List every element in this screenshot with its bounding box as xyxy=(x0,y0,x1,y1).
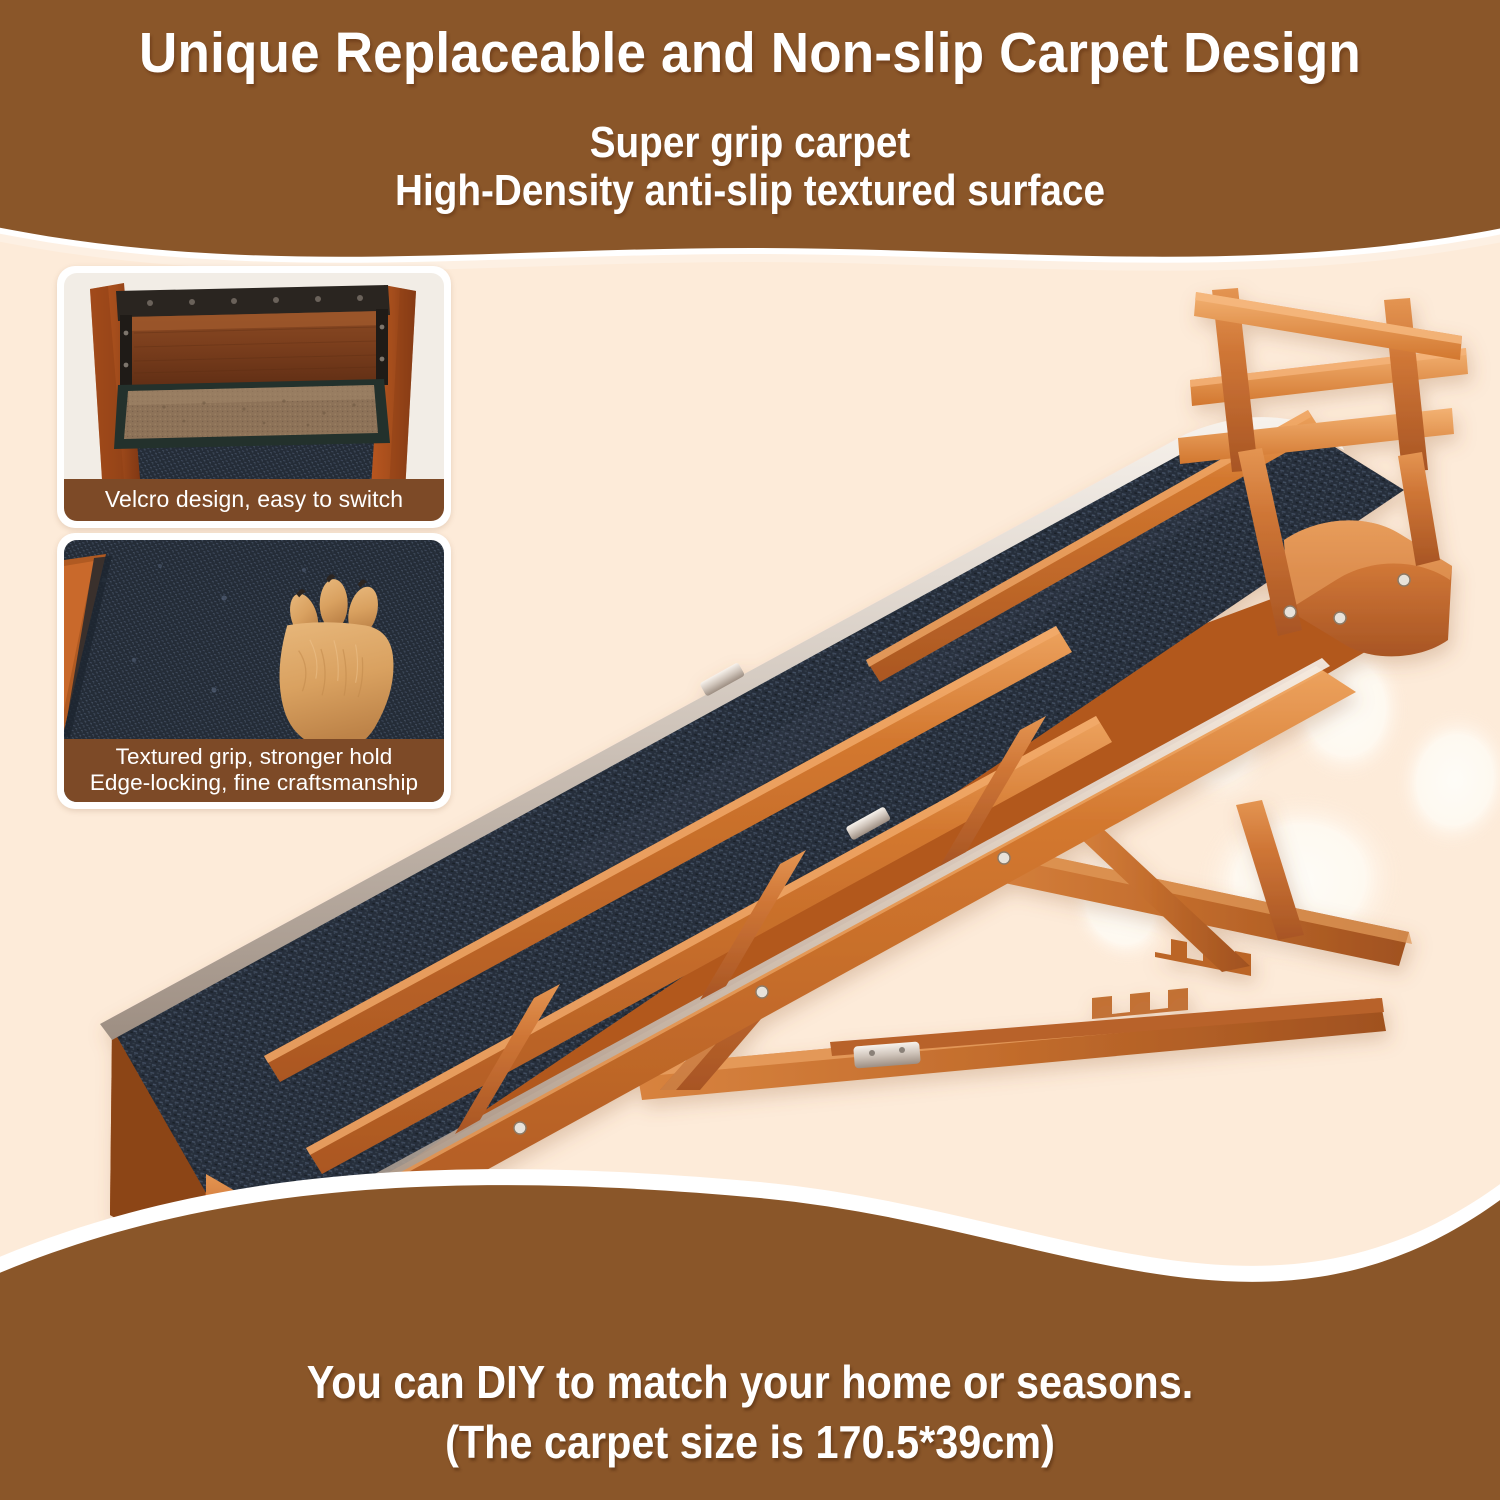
header-arc xyxy=(0,0,1500,257)
caption-line: Textured grip, stronger hold xyxy=(66,744,442,770)
inset-caption-texture: Textured grip, stronger hold Edge-lockin… xyxy=(64,739,444,802)
caption-line: Edge-locking, fine craftsmanship xyxy=(66,770,442,796)
inset-card-velcro: Velcro design, easy to switch xyxy=(57,266,451,528)
inset-card-texture: Textured grip, stronger hold Edge-lockin… xyxy=(57,533,451,809)
caption-line: Velcro design, easy to switch xyxy=(68,486,440,513)
inset-caption-velcro: Velcro design, easy to switch xyxy=(64,479,444,521)
marketing-banner: Unique Replaceable and Non-slip Carpet D… xyxy=(0,0,1500,1500)
